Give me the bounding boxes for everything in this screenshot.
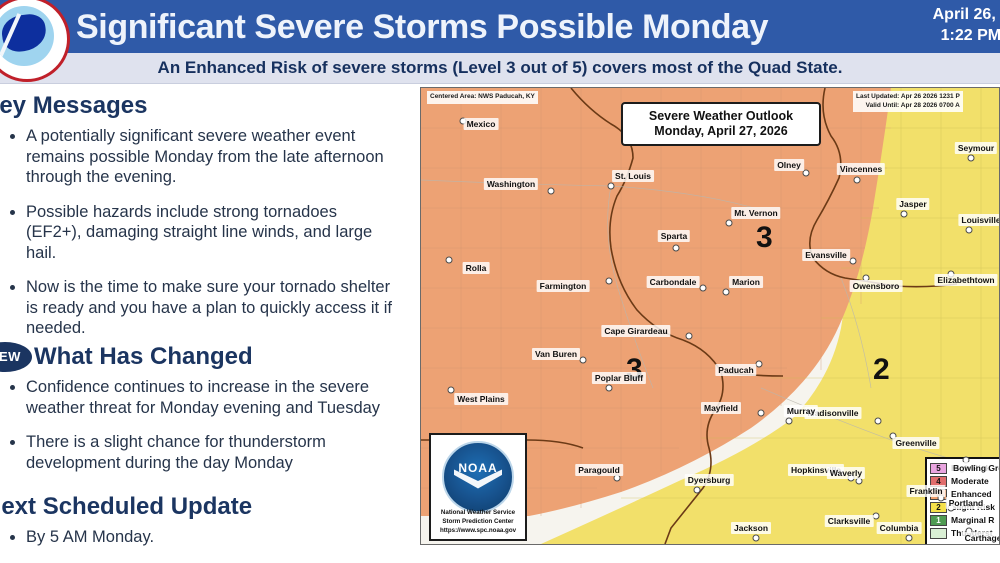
city-label: Greenville bbox=[892, 437, 939, 449]
noaa-spc-logo-box: NOAA National Weather Service Storm Pred… bbox=[429, 433, 527, 541]
city-label: Jasper bbox=[896, 198, 929, 210]
issued-date: April 26, 20 bbox=[933, 4, 1000, 25]
city-marker bbox=[580, 357, 587, 364]
city-marker bbox=[968, 155, 975, 162]
city-marker bbox=[726, 220, 733, 227]
update-validity-note: Last Updated: Apr 26 2026 1231 P Valid U… bbox=[853, 91, 963, 112]
noaa-line-1: National Weather Service bbox=[431, 508, 525, 517]
city-label: Van Buren bbox=[532, 348, 580, 360]
city-marker bbox=[906, 535, 913, 542]
next-update-heading: Next Scheduled Update bbox=[0, 493, 252, 521]
list-item: Confidence continues to increase in the … bbox=[4, 377, 396, 418]
city-label: Farmington bbox=[537, 280, 590, 292]
legend-row-1: 1 Marginal R bbox=[930, 514, 1000, 526]
city-label: Columbia bbox=[877, 522, 922, 534]
city-label: Paducah bbox=[715, 364, 756, 376]
legend-swatch-thunderstorm bbox=[930, 528, 947, 539]
list-item: There is a slight chance for thunderstor… bbox=[4, 432, 396, 473]
city-marker bbox=[966, 227, 973, 234]
list-item: Possible hazards include strong tornadoe… bbox=[4, 202, 396, 264]
city-marker bbox=[673, 245, 680, 252]
city-marker bbox=[786, 418, 793, 425]
city-label: Seymour bbox=[955, 142, 997, 154]
city-label: Jackson bbox=[731, 522, 771, 534]
subtitle-text: An Enhanced Risk of severe storms (Level… bbox=[0, 53, 1000, 83]
centered-area-note: Centered Area: NWS Paducah, KY bbox=[427, 91, 538, 104]
legend-swatch-2: 2 bbox=[930, 502, 947, 513]
left-panel: Key Messages A potentially significant s… bbox=[0, 84, 412, 563]
city-marker bbox=[606, 278, 613, 285]
city-label: Murray bbox=[784, 405, 818, 417]
city-label: Carthage bbox=[962, 532, 1000, 544]
city-label: Mt. Vernon bbox=[731, 207, 780, 219]
city-label: Owensboro bbox=[850, 280, 903, 292]
city-label: Poplar Bluff bbox=[592, 372, 646, 384]
city-marker bbox=[756, 361, 763, 368]
valid-until-text: Valid Until: Apr 28 2026 0700 A bbox=[856, 102, 960, 111]
last-updated-text: Last Updated: Apr 26 2026 1231 P bbox=[856, 93, 960, 102]
legend-label-1: Marginal R bbox=[951, 515, 994, 525]
city-label: St. Louis bbox=[612, 170, 654, 182]
city-marker bbox=[694, 487, 701, 494]
city-label: Carbondale bbox=[647, 276, 700, 288]
list-item: By 5 AM Monday. bbox=[4, 527, 396, 548]
legend-label-4: Moderate bbox=[951, 476, 989, 486]
legend-swatch-1: 1 bbox=[930, 515, 947, 526]
issued-time: 1:22 PM C bbox=[933, 25, 1000, 46]
what-has-changed-heading: What Has Changed bbox=[34, 343, 253, 371]
logo-ring bbox=[0, 0, 61, 73]
risk-label-3-illinois: 3 bbox=[756, 221, 773, 255]
city-label: Dyersburg bbox=[685, 474, 734, 486]
city-label: Bowling Green bbox=[950, 462, 1000, 474]
city-marker bbox=[723, 289, 730, 296]
city-marker bbox=[608, 183, 615, 190]
risk-label-2-kentucky: 2 bbox=[873, 353, 890, 387]
city-label: Portland bbox=[946, 497, 986, 509]
noaa-line-2: Storm Prediction Center bbox=[431, 517, 525, 526]
map-title-box: Severe Weather Outlook Monday, April 27,… bbox=[621, 102, 821, 146]
city-marker bbox=[875, 418, 882, 425]
city-marker bbox=[686, 333, 693, 340]
city-label: Marion bbox=[729, 276, 763, 288]
city-marker bbox=[758, 410, 765, 417]
city-label: Washington bbox=[484, 178, 538, 190]
page-title: Significant Severe Storms Possible Monda… bbox=[76, 2, 876, 52]
city-label: Cape Girardeau bbox=[601, 325, 670, 337]
city-label: Elizabethtown bbox=[934, 274, 997, 286]
map-title-line1: Severe Weather Outlook bbox=[627, 109, 815, 124]
map-title-line2: Monday, April 27, 2026 bbox=[627, 124, 815, 139]
city-marker bbox=[446, 257, 453, 264]
city-label: Louisville bbox=[958, 214, 1000, 226]
city-marker bbox=[873, 513, 880, 520]
city-label: Clarksville bbox=[825, 515, 874, 527]
key-messages-heading: Key Messages bbox=[0, 92, 147, 120]
city-label: Paragould bbox=[575, 464, 623, 476]
list-item: A potentially significant severe weather… bbox=[4, 126, 396, 188]
city-label: Vincennes bbox=[837, 163, 885, 175]
city-marker bbox=[753, 535, 760, 542]
what-has-changed-list: Confidence continues to increase in the … bbox=[4, 377, 396, 487]
city-label: Waverly bbox=[827, 467, 865, 479]
city-label: Evansville bbox=[802, 249, 850, 261]
city-label: Olney bbox=[774, 159, 804, 171]
list-item: Now is the time to make sure your tornad… bbox=[4, 277, 396, 339]
city-marker bbox=[548, 188, 555, 195]
city-marker bbox=[700, 285, 707, 292]
severe-weather-outlook-map[interactable]: 3 3 2 Severe Weather Outlook Monday, Apr… bbox=[420, 87, 1000, 545]
header-band: Significant Severe Storms Possible Monda… bbox=[0, 0, 1000, 53]
key-messages-list: A potentially significant severe weather… bbox=[4, 126, 396, 353]
city-label: Mayfield bbox=[701, 402, 741, 414]
city-label: West Plains bbox=[454, 393, 508, 405]
city-marker bbox=[854, 177, 861, 184]
city-marker bbox=[606, 385, 613, 392]
next-update-list: By 5 AM Monday. bbox=[4, 527, 396, 562]
city-label: Mexico bbox=[464, 118, 499, 130]
city-label: Sparta bbox=[658, 230, 690, 242]
noaa-caption: National Weather Service Storm Predictio… bbox=[431, 508, 525, 535]
issued-timestamp: April 26, 20 1:22 PM C bbox=[933, 4, 1000, 46]
noaa-seal-icon: NOAA bbox=[442, 441, 514, 513]
city-label: Rolla bbox=[463, 262, 490, 274]
noaa-line-3: https://www.spc.noaa.gov bbox=[431, 526, 525, 535]
city-marker bbox=[901, 211, 908, 218]
legend-swatch-5: 5 bbox=[930, 463, 947, 474]
subtitle-band: An Enhanced Risk of severe storms (Level… bbox=[0, 53, 1000, 84]
city-marker bbox=[850, 258, 857, 265]
city-label: Franklin bbox=[906, 485, 945, 497]
